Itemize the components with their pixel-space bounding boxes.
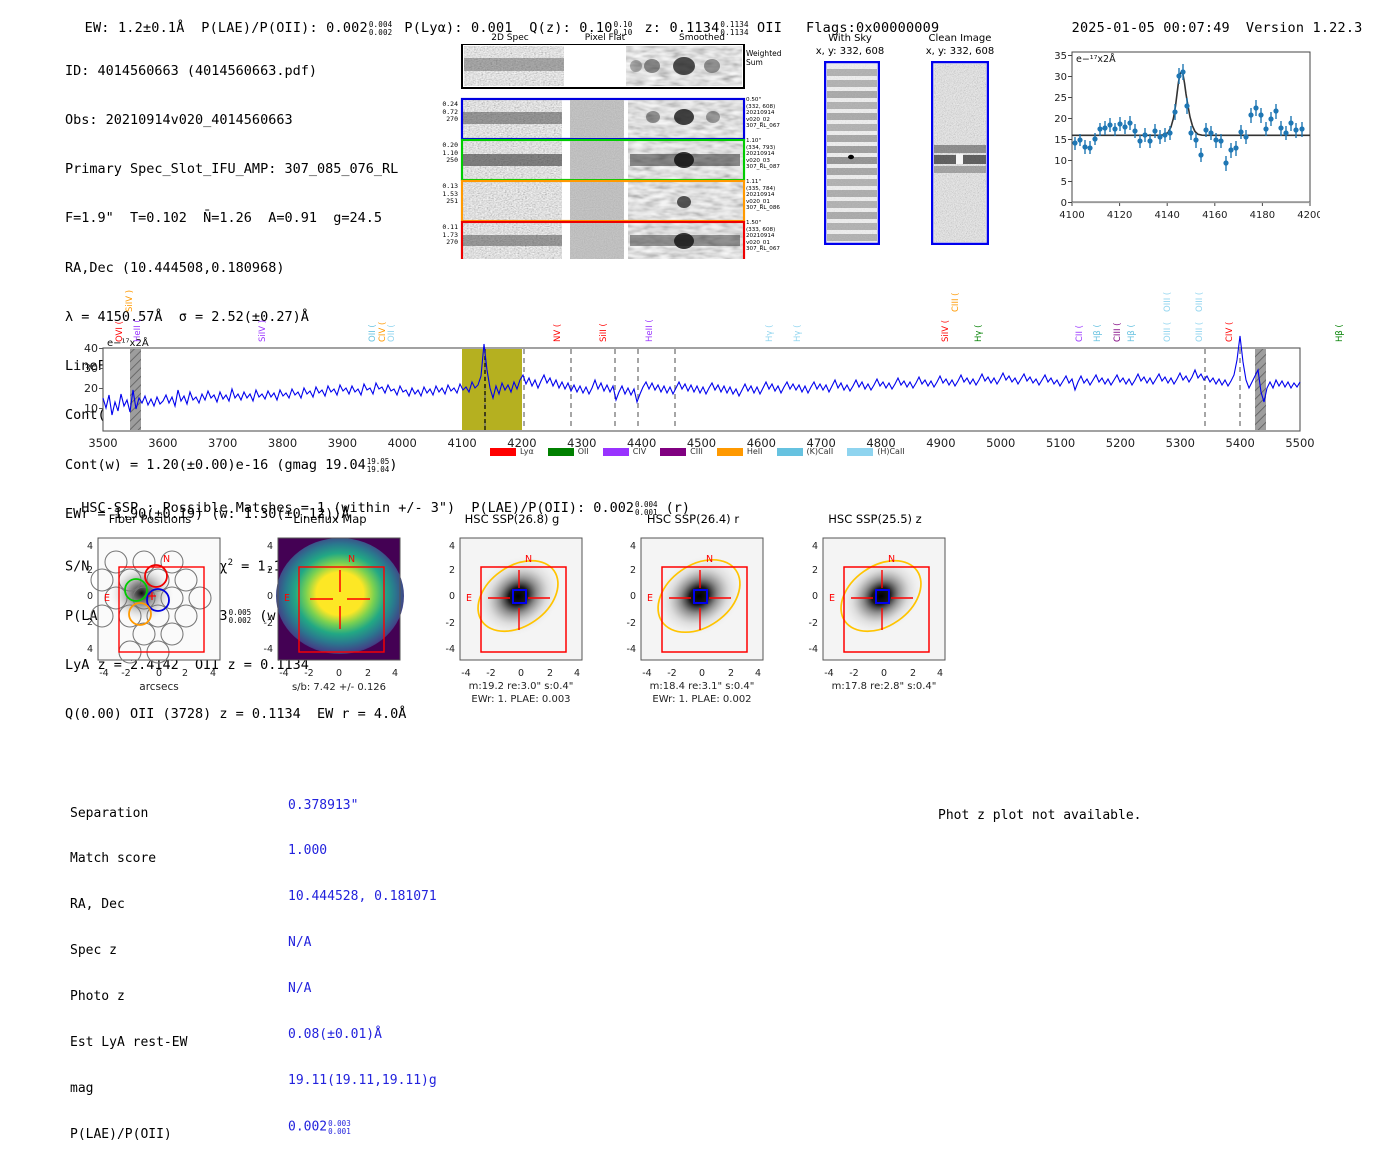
spectrum-highlight-band bbox=[462, 349, 522, 430]
svg-text:5100: 5100 bbox=[1046, 436, 1075, 450]
svg-text:15: 15 bbox=[1054, 135, 1067, 146]
panel-lineflux-title: Lineflux Map bbox=[240, 512, 420, 526]
svg-text:5400: 5400 bbox=[1226, 436, 1255, 450]
svg-text:2: 2 bbox=[910, 668, 916, 679]
legend-swatch-civ bbox=[603, 448, 629, 456]
svg-text:Hγ (: Hγ ( bbox=[974, 325, 984, 342]
bottom-value-spec-z: N/A bbox=[288, 935, 437, 950]
bottom-value-est-lya-ew: 0.08(±0.01)Å bbox=[288, 1027, 437, 1042]
full-spectrum-svg: 40302010 e−¹⁷x2Å 350036003700 3800390040… bbox=[60, 270, 1350, 470]
hsc-r-plot: N E 420-2-4 -4-2024 m:18.4 re:3.1" s:0.4… bbox=[603, 530, 783, 726]
bottom-label-est-lya-ew: Est LyA rest-EW bbox=[70, 1035, 187, 1050]
svg-text:4: 4 bbox=[812, 541, 818, 552]
legend-item-kcaii: (K)CaII bbox=[777, 447, 834, 456]
svg-text:2: 2 bbox=[87, 565, 93, 576]
legend-item-ciii: CIII bbox=[660, 447, 703, 456]
compass-e-label-5: E bbox=[829, 593, 835, 604]
compass-n-label: N bbox=[163, 554, 170, 565]
bottom-value-separation: 0.378913" bbox=[288, 798, 437, 813]
legend-swatch-oii bbox=[548, 448, 574, 456]
svg-text:0: 0 bbox=[87, 591, 93, 602]
svg-text:OIII (: OIII ( bbox=[1195, 292, 1205, 312]
svg-text:-4: -4 bbox=[642, 668, 651, 679]
legend-item-civ: CIV bbox=[603, 447, 646, 456]
spectrum-y-ticks: 40302010 bbox=[84, 342, 98, 415]
compass-e-label-4: E bbox=[647, 593, 653, 604]
svg-text:0: 0 bbox=[336, 668, 342, 679]
detail-seeing-throughput: F=1.9" T=0.102 N̄=1.26 A=0.91 g=24.5 bbox=[65, 210, 406, 226]
svg-text:5: 5 bbox=[1061, 177, 1067, 188]
svg-text:10: 10 bbox=[1054, 156, 1067, 167]
svg-text:-4: -4 bbox=[446, 644, 455, 655]
svg-text:3600: 3600 bbox=[148, 436, 177, 450]
svg-text:4: 4 bbox=[755, 668, 761, 679]
bottom-value-column: 0.378913" 1.000 10.444528, 0.181071 N/A … bbox=[288, 767, 437, 1150]
fiber-info-0: 0.50" (332, 608) 20210914 v020_02 307_RL… bbox=[746, 97, 780, 130]
svg-text:4200: 4200 bbox=[1297, 210, 1320, 221]
svg-text:3800: 3800 bbox=[268, 436, 297, 450]
svg-text:Hγ (: Hγ ( bbox=[793, 325, 803, 342]
photz-unavailable-note: Phot z plot not available. bbox=[938, 808, 1142, 823]
svg-text:5300: 5300 bbox=[1166, 436, 1195, 450]
timestamp-text: 2025-01-05 00:07:49 bbox=[1072, 20, 1230, 36]
compass-n-label-3: N bbox=[525, 554, 532, 565]
svg-text:-4: -4 bbox=[279, 668, 288, 679]
full-spectrum-chart: 40302010 e−¹⁷x2Å 350036003700 3800390040… bbox=[60, 270, 1350, 470]
hsc-r-caption1: m:18.4 re:3.1" s:0.4" bbox=[650, 681, 755, 692]
compass-n-label-5: N bbox=[888, 554, 895, 565]
svg-text:2: 2 bbox=[267, 565, 273, 576]
panel-hsc-g-title: HSC SSP(26.8) g bbox=[422, 512, 602, 526]
hsc-z-caption1: m:17.8 re:2.8" s:0.4" bbox=[832, 681, 937, 692]
svg-text:2: 2 bbox=[630, 565, 636, 576]
svg-text:4: 4 bbox=[87, 541, 93, 552]
compass-e-label: E bbox=[104, 593, 110, 604]
line-fit-chart: 353025 201510 50 410041204140 4160418042… bbox=[1030, 38, 1320, 258]
svg-text:2: 2 bbox=[547, 668, 553, 679]
svg-text:2: 2 bbox=[728, 668, 734, 679]
compass-n-label-4: N bbox=[706, 554, 713, 565]
fiber-metrics-1: 0.20 1.10 250 bbox=[422, 142, 458, 165]
svg-text:0: 0 bbox=[699, 668, 705, 679]
spec2d-images bbox=[420, 44, 760, 259]
svg-text:Hγ (: Hγ ( bbox=[765, 325, 775, 342]
lineflux-caption: s/b: 7.42 +/- 0.126 bbox=[292, 682, 386, 693]
svg-text:CIV (: CIV ( bbox=[1225, 322, 1235, 342]
svg-text:SiIV (: SiIV ( bbox=[941, 320, 951, 342]
fiber-info-1: 1.10" (334, 793) 20210914 v020_03 307_RL… bbox=[746, 138, 780, 171]
panel-hsc-r: HSC SSP(26.4) r N E 420-2-4 -4-2024 m:18… bbox=[603, 512, 783, 727]
weighted-sum-row bbox=[462, 44, 744, 88]
svg-text:SiIV ): SiIV ) bbox=[125, 290, 135, 312]
svg-text:2: 2 bbox=[182, 668, 188, 679]
bottom-value-plae: 0.0020.0030.001 bbox=[288, 1119, 437, 1135]
svg-text:5000: 5000 bbox=[986, 436, 1015, 450]
svg-text:4000: 4000 bbox=[388, 436, 417, 450]
svg-text:-2: -2 bbox=[121, 668, 130, 679]
svg-text:3700: 3700 bbox=[208, 436, 237, 450]
svg-text:2: 2 bbox=[812, 565, 818, 576]
svg-text:-2: -2 bbox=[809, 618, 818, 629]
svg-text:-4: -4 bbox=[99, 668, 108, 679]
fiber-metrics-2: 0.13 1.53 251 bbox=[422, 183, 458, 206]
svg-text:25: 25 bbox=[1054, 93, 1067, 104]
hsc-z-plot: N E 420-2-4 -4-2024 m:17.8 re:2.8" s:0.4… bbox=[785, 530, 965, 726]
legend-item-heii: HeII bbox=[717, 447, 763, 456]
svg-text:OIII (: OIII ( bbox=[1195, 322, 1205, 342]
svg-text:20: 20 bbox=[1054, 114, 1067, 125]
spec2d-col-title-smoothed: Smoothed bbox=[657, 33, 747, 43]
panel-fiber-positions: Fiber Positions N E 42024 bbox=[60, 512, 240, 722]
svg-text:-4: -4 bbox=[627, 644, 636, 655]
fiber-row-3 bbox=[462, 222, 744, 259]
header-classification: OII bbox=[757, 20, 782, 36]
bottom-label-mag: mag bbox=[70, 1081, 187, 1096]
svg-text:2: 2 bbox=[365, 668, 371, 679]
bottom-label-plae: P(LAE)/P(OII) bbox=[70, 1127, 187, 1142]
svg-text:0: 0 bbox=[881, 668, 887, 679]
svg-text:0: 0 bbox=[1061, 198, 1067, 209]
lineflux-map-plot: N E 420-2-4 -4-2024 s/b: 7.42 +/- 0.126 bbox=[240, 530, 420, 720]
svg-text:3500: 3500 bbox=[88, 436, 117, 450]
legend-swatch-kcaii bbox=[777, 448, 803, 456]
detail-obs: Obs: 20210914v020_4014560663 bbox=[65, 112, 406, 128]
svg-text:5500: 5500 bbox=[1285, 436, 1314, 450]
panel-hsc-r-title: HSC SSP(26.4) r bbox=[603, 512, 783, 526]
svg-text:SiIV ): SiIV ) bbox=[258, 320, 268, 342]
legend-swatch-heii bbox=[717, 448, 743, 456]
svg-text:4100: 4100 bbox=[1059, 210, 1084, 221]
hsc-g-caption1: m:19.2 re:3.0" s:0.4" bbox=[469, 681, 574, 692]
compass-e-label-3: E bbox=[466, 593, 472, 604]
panel-lineflux-map: Lineflux Map N E 420-2-4 -4-202 bbox=[240, 512, 420, 722]
fiber-metrics-3: 0.11 1.73 270 bbox=[422, 224, 458, 247]
hsc-g-caption2: EWr: 1. PLAE: 0.003 bbox=[471, 694, 570, 705]
legend-swatch-lya bbox=[490, 448, 516, 456]
spec2d-col-title-pixelflat: Pixel Flat bbox=[560, 33, 650, 43]
svg-text:Hβ (: Hβ ( bbox=[1093, 324, 1103, 342]
svg-text:NV (: NV ( bbox=[553, 324, 563, 342]
bottom-value-photo-z: N/A bbox=[288, 981, 437, 996]
svg-text:CIII (: CIII ( bbox=[1113, 323, 1123, 342]
bottom-label-separation: Separation bbox=[70, 806, 187, 821]
cutout-with-sky-title: With Sky bbox=[800, 33, 900, 44]
svg-text:40: 40 bbox=[84, 342, 98, 355]
fiber-row-1 bbox=[462, 140, 744, 180]
fiber-info-2: 1.11" (335, 784) 20210914 v020_01 307_RL… bbox=[746, 179, 780, 212]
spectrum-legend: Lyα OII CIV CIII HeII (K)CaII (H)CaII bbox=[490, 447, 905, 456]
svg-text:-2: -2 bbox=[446, 618, 455, 629]
fiber-positions-plot: N E 42024 -4-2024 arcsecs bbox=[60, 530, 240, 720]
svg-text:-2: -2 bbox=[304, 668, 313, 679]
detail-id: ID: 4014560663 (4014560663.pdf) bbox=[65, 63, 406, 79]
legend-item-lya: Lyα bbox=[490, 447, 534, 456]
svg-text:30: 30 bbox=[1054, 72, 1067, 83]
svg-text:4: 4 bbox=[630, 541, 636, 552]
bottom-label-column: Separation Match score RA, Dec Spec z Ph… bbox=[70, 775, 187, 1157]
spectrum-mask-band-blue bbox=[130, 349, 141, 430]
svg-text:-2: -2 bbox=[849, 668, 858, 679]
legend-swatch-hcaii bbox=[847, 448, 873, 456]
version-text: Version 1.22.3 bbox=[1246, 20, 1363, 36]
svg-text:4: 4 bbox=[267, 541, 273, 552]
svg-text:-2: -2 bbox=[667, 668, 676, 679]
svg-text:4: 4 bbox=[449, 541, 455, 552]
bottom-value-radec: 10.444528, 0.181071 bbox=[288, 889, 437, 904]
svg-text:4: 4 bbox=[937, 668, 943, 679]
spectrum-line-markers: OVI ( SiIV ) HeII ( SiIV ) OII ( CIV ( O… bbox=[115, 290, 1345, 342]
svg-text:4: 4 bbox=[392, 668, 398, 679]
svg-text:HeII (: HeII ( bbox=[645, 319, 655, 342]
bottom-label-spec-z: Spec z bbox=[70, 943, 187, 958]
header-timestamp: 2025-01-05 00:07:49Version 1.22.3 bbox=[1055, 4, 1362, 36]
svg-text:0: 0 bbox=[449, 591, 455, 602]
svg-text:0: 0 bbox=[267, 591, 273, 602]
bottom-label-photo-z: Photo z bbox=[70, 989, 187, 1004]
cutout-clean-image-img bbox=[931, 61, 989, 245]
svg-text:Hβ (: Hβ ( bbox=[1335, 324, 1345, 342]
svg-text:3900: 3900 bbox=[328, 436, 357, 450]
svg-text:OII (: OII ( bbox=[387, 324, 397, 342]
compass-e-label-2: E bbox=[284, 593, 290, 604]
svg-text:CIII (: CIII ( bbox=[951, 293, 961, 312]
svg-text:35: 35 bbox=[1054, 51, 1067, 62]
svg-text:20: 20 bbox=[84, 382, 98, 395]
cutout-clean-title: Clean Image bbox=[905, 33, 1015, 44]
svg-text:4: 4 bbox=[210, 668, 216, 679]
svg-text:OVI (: OVI ( bbox=[115, 321, 125, 342]
svg-text:5200: 5200 bbox=[1106, 436, 1135, 450]
svg-text:-4: -4 bbox=[264, 644, 273, 655]
bottom-plae-fraction: 0.0030.001 bbox=[328, 1120, 351, 1136]
legend-swatch-ciii bbox=[660, 448, 686, 456]
svg-text:4160: 4160 bbox=[1202, 210, 1227, 221]
svg-text:-2: -2 bbox=[627, 618, 636, 629]
bottom-value-match-score: 1.000 bbox=[288, 843, 437, 858]
svg-text:4120: 4120 bbox=[1107, 210, 1132, 221]
panel-fiber-positions-title: Fiber Positions bbox=[60, 512, 240, 526]
svg-text:-4: -4 bbox=[824, 668, 833, 679]
svg-text:OIII (: OIII ( bbox=[1163, 322, 1173, 342]
compass-n-label-2: N bbox=[348, 554, 355, 565]
svg-text:2: 2 bbox=[449, 565, 455, 576]
svg-text:0: 0 bbox=[630, 591, 636, 602]
svg-text:OIII (: OIII ( bbox=[1163, 292, 1173, 312]
line-fit-units-annotation: e−¹⁷x2Å bbox=[1076, 53, 1116, 65]
line-fit-svg: 353025 201510 50 410041204140 4160418042… bbox=[1030, 38, 1320, 258]
fiber-row-2 bbox=[462, 181, 744, 221]
svg-text:4900: 4900 bbox=[926, 436, 955, 450]
svg-text:-4: -4 bbox=[809, 644, 818, 655]
cutout-with-sky-image bbox=[824, 61, 880, 245]
spec2d-panel: 2D Spec Pixel Flat Smoothed Weighted Sum bbox=[420, 33, 760, 258]
detail-primary-spec-slot: Primary Spec_Slot_IFU_AMP: 307_085_076_R… bbox=[65, 161, 406, 177]
fiber-info-3: 1.50" (333, 608) 20210914 v020_01 307_RL… bbox=[746, 220, 780, 253]
svg-text:4: 4 bbox=[574, 668, 580, 679]
cutout-clean-subtitle: x, y: 332, 608 bbox=[905, 46, 1015, 57]
svg-text:-2: -2 bbox=[486, 668, 495, 679]
panel-hsc-g: HSC SSP(26.8) g N E 420-2-4 -4-2024 bbox=[422, 512, 602, 727]
bottom-label-radec: RA, Dec bbox=[70, 897, 187, 912]
svg-text:-4: -4 bbox=[461, 668, 470, 679]
svg-text:OII (: OII ( bbox=[368, 324, 378, 342]
bottom-value-mag: 19.11(19.11,19.11)g bbox=[288, 1073, 437, 1088]
svg-text:4140: 4140 bbox=[1154, 210, 1179, 221]
svg-text:HeII (: HeII ( bbox=[133, 319, 143, 342]
legend-item-oii: OII bbox=[548, 447, 589, 456]
fiber-row-0 bbox=[462, 99, 744, 139]
panel-hsc-z: HSC SSP(25.5) z N E 420-2-4 -4-2024 m:17… bbox=[785, 512, 965, 727]
svg-text:Hβ (: Hβ ( bbox=[1127, 324, 1137, 342]
svg-text:CII (: CII ( bbox=[1075, 325, 1085, 342]
spec2d-col-title-2dspec: 2D Spec bbox=[465, 33, 555, 43]
hsc-g-plot: N E 420-2-4 -4-2024 m:19.2 re:3.0" s:0.4… bbox=[422, 530, 602, 726]
fiber-positions-xlabel: arcsecs bbox=[139, 681, 178, 693]
svg-text:4180: 4180 bbox=[1250, 210, 1275, 221]
hsc-r-caption2: EWr: 1. PLAE: 0.002 bbox=[652, 694, 751, 705]
svg-text:10: 10 bbox=[84, 402, 98, 415]
bottom-label-match-score: Match score bbox=[70, 851, 187, 866]
svg-text:4100: 4100 bbox=[447, 436, 476, 450]
svg-text:0: 0 bbox=[518, 668, 524, 679]
fiber-metrics-0: 0.24 0.72 270 bbox=[422, 101, 458, 124]
svg-text:30: 30 bbox=[84, 362, 98, 375]
svg-text:SiII (: SiII ( bbox=[599, 323, 609, 342]
svg-text:4: 4 bbox=[87, 644, 93, 655]
legend-item-hcaii: (H)CaII bbox=[847, 447, 904, 456]
svg-text:0: 0 bbox=[156, 668, 162, 679]
svg-text:-2: -2 bbox=[264, 618, 273, 629]
svg-text:0: 0 bbox=[812, 591, 818, 602]
cutout-with-sky-subtitle: x, y: 332, 608 bbox=[800, 46, 900, 57]
svg-text:2: 2 bbox=[87, 617, 93, 628]
panel-hsc-z-title: HSC SSP(25.5) z bbox=[785, 512, 965, 526]
